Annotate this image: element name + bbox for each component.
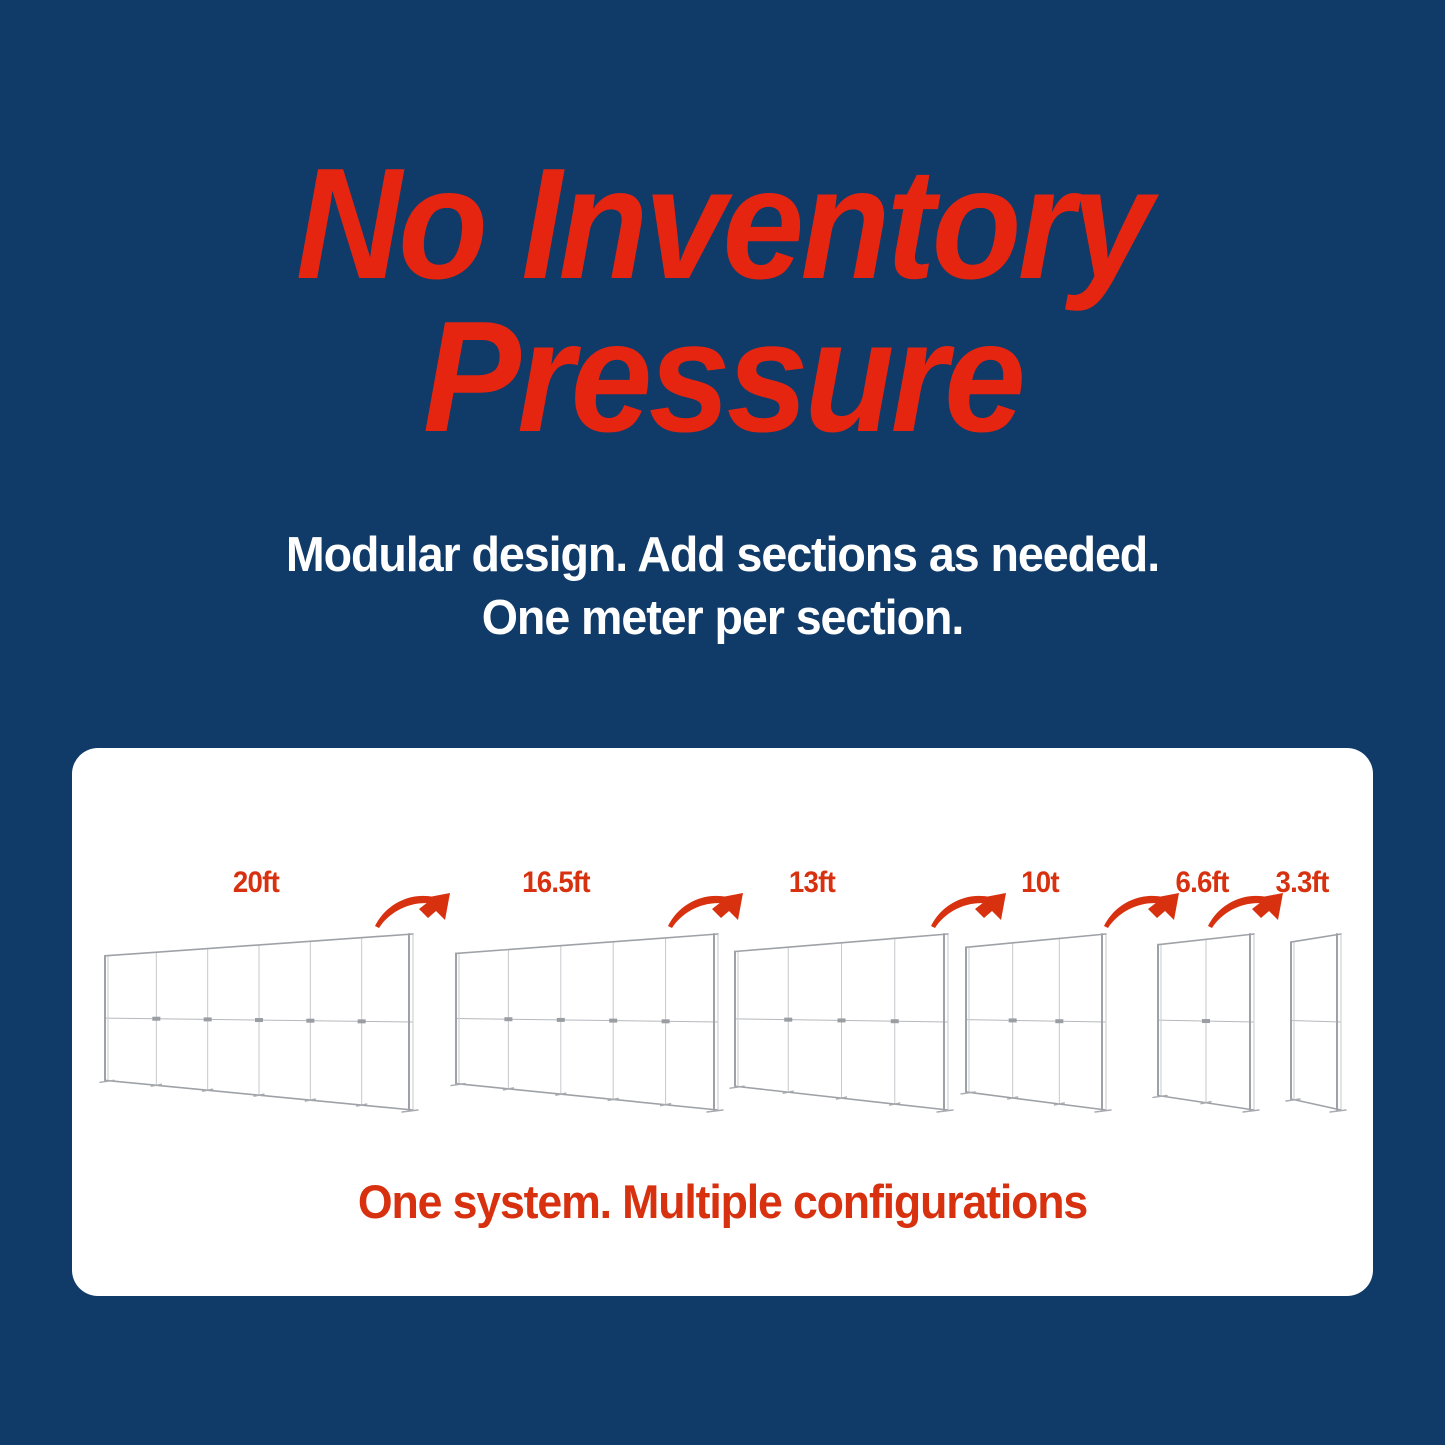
subtitle-line-2: One meter per section.	[36, 587, 1409, 650]
page-title: No Inventory Pressure	[51, 148, 1395, 455]
display-frame-16-5ft	[442, 920, 732, 1124]
display-frame-3-3ft	[1277, 920, 1355, 1124]
size-label-10t: 10t	[1021, 866, 1059, 900]
frame-connector	[306, 1019, 314, 1023]
frame-connector	[891, 1019, 899, 1023]
display-frame-13ft	[721, 920, 962, 1124]
frame-strut	[937, 1110, 953, 1112]
frame-connector	[504, 1017, 512, 1021]
frame-strut	[1243, 1110, 1259, 1112]
frame-strut	[1291, 934, 1341, 942]
frame-connector	[557, 1018, 565, 1022]
page-subtitle: Modular design. Add sections as needed. …	[36, 524, 1409, 649]
size-label-16-5ft: 16.5ft	[522, 866, 590, 900]
frame-strut	[456, 1084, 718, 1110]
display-frame-10t	[952, 920, 1120, 1124]
frame-connector	[838, 1018, 846, 1022]
frame-connector	[1055, 1019, 1063, 1023]
frame-strut	[1330, 1110, 1346, 1112]
frame-connector	[662, 1019, 670, 1023]
frame-strut	[100, 1080, 114, 1082]
frame-strut	[961, 1092, 975, 1094]
frame-connector	[784, 1018, 792, 1022]
frame-strut	[451, 1084, 465, 1086]
frame-strut	[456, 1019, 718, 1022]
headline-line-1: No Inventory	[51, 148, 1395, 301]
frame-connector	[358, 1019, 366, 1023]
headline-line-2: Pressure	[51, 301, 1395, 454]
frame-strut	[1291, 1021, 1341, 1022]
poster-canvas: No Inventory Pressure Modular design. Ad…	[0, 0, 1445, 1445]
frame-connector	[1202, 1019, 1210, 1023]
frame-connector	[1009, 1018, 1017, 1022]
frame-strut	[730, 1086, 744, 1088]
size-label-20ft: 20ft	[233, 866, 279, 900]
size-label-13ft: 13ft	[789, 866, 835, 900]
frame-connector	[255, 1018, 263, 1022]
frame-connector	[152, 1017, 160, 1021]
frame-strut	[966, 934, 1106, 947]
frame-connector	[609, 1019, 617, 1023]
card-caption: One system. Multiple configurations	[105, 1174, 1341, 1229]
frame-connector	[204, 1017, 212, 1021]
subtitle-line-1: Modular design. Add sections as needed.	[36, 524, 1409, 587]
frame-strut	[456, 934, 718, 953]
frame-strut	[1291, 1099, 1341, 1110]
frame-strut	[966, 1020, 1106, 1022]
frame-strut	[1095, 1110, 1111, 1112]
frame-strut	[966, 1092, 1106, 1110]
frame-strut	[402, 1110, 418, 1112]
display-frame-20ft	[91, 920, 427, 1124]
display-frame-6-6ft	[1144, 920, 1268, 1124]
